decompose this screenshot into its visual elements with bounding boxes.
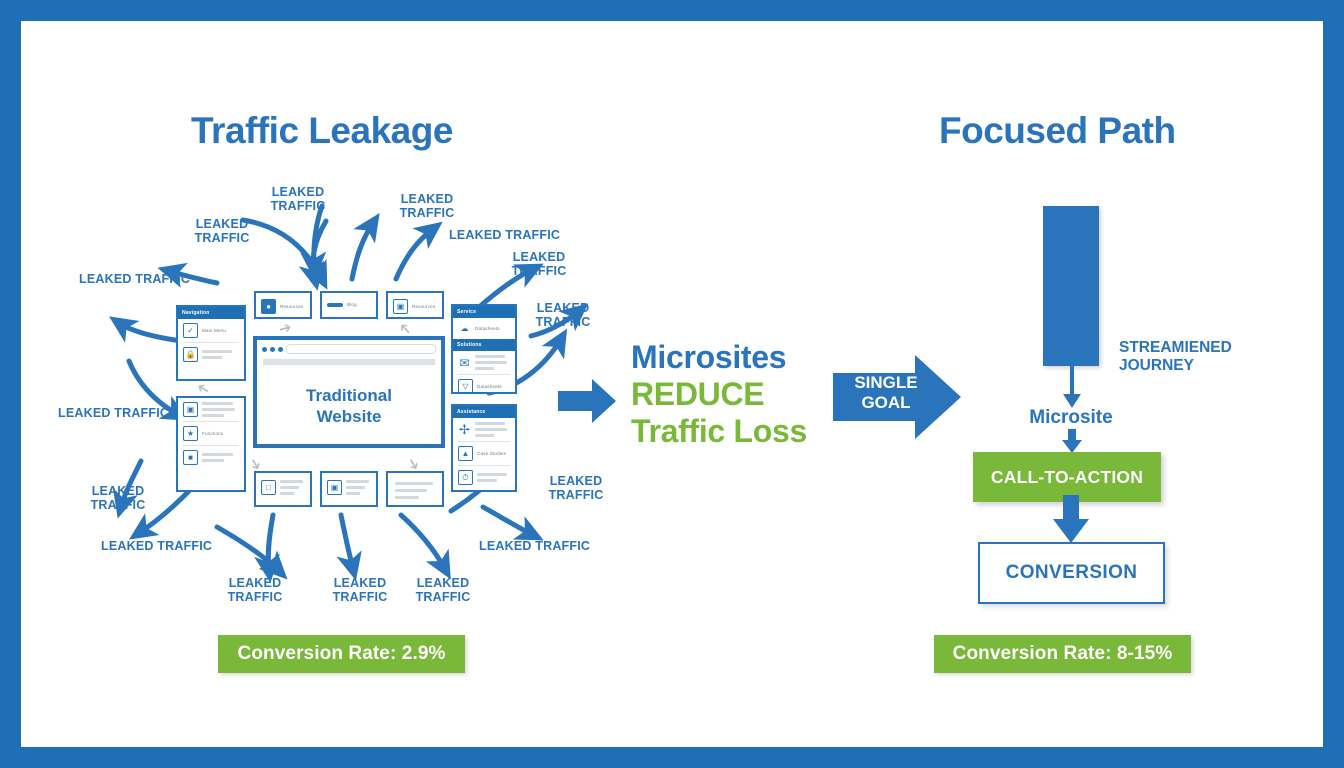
leak-label: LEAKED TRAFFIC <box>393 193 461 220</box>
gallery-icon: ▣ <box>327 480 342 495</box>
placeholder-line <box>202 414 224 417</box>
mockup-row-label: Resources <box>412 304 435 309</box>
leak-label: LEAKED TRAFFIC <box>84 485 152 512</box>
placeholder-line <box>475 355 505 358</box>
leak-label: LEAKED TRAFFIC <box>529 302 597 329</box>
traffic-funnel-bar <box>1043 206 1099 366</box>
single-goal-line2: GOAL <box>861 393 910 412</box>
leak-label: LEAKED TRAFFIC <box>188 218 256 245</box>
mockup-row: ✓ Main Menu <box>178 319 244 342</box>
mockup-row-label: Case Studies <box>477 451 506 456</box>
mockup-row: ▲ Case Studies <box>453 442 515 465</box>
mockup-card-top-2[interactable]: Blog <box>320 291 378 319</box>
placeholder-line <box>280 486 299 489</box>
mockup-card-bot-3[interactable] <box>386 471 444 507</box>
mockup-row: ■ <box>178 446 244 469</box>
placeholder-line <box>475 361 507 364</box>
placeholder-line <box>395 482 433 485</box>
mockup-header: Assistance <box>453 406 515 418</box>
lock-icon: 🔒 <box>183 347 198 362</box>
mockup-row-label: Functions <box>202 431 223 436</box>
placeholder-line <box>475 428 507 431</box>
mockup-row: ✢ <box>453 418 515 441</box>
placeholder-line <box>202 408 235 411</box>
leak-label: LEAKED TRAFFIC <box>264 186 332 213</box>
mockup-row-label: Datasheets <box>475 326 500 331</box>
placeholder-line <box>395 489 427 492</box>
leak-label: LEAKED TRAFFIC <box>449 229 560 243</box>
mockup-card-bot-1[interactable]: □ <box>254 471 312 507</box>
right-conversion-rate-banner: Conversion Rate: 8-15% <box>934 635 1191 673</box>
infographic-canvas: Traffic Leakage Focused Path <box>21 21 1323 747</box>
placeholder-line <box>202 356 222 359</box>
square-icon: □ <box>261 480 276 495</box>
placeholder-line <box>280 492 294 495</box>
doc-icon: ▲ <box>458 446 473 461</box>
center-line-1: Microsites <box>631 339 826 376</box>
browser-title-line2: Website <box>317 407 382 426</box>
mockup-row-label: Blog <box>347 302 357 307</box>
shield-icon: ★ <box>183 426 198 441</box>
mockup-row: □ <box>256 473 310 502</box>
mockup-row <box>388 473 442 508</box>
image-icon: ▣ <box>183 402 198 417</box>
person-icon: ● <box>261 299 276 314</box>
cloud-icon: ☁ <box>458 322 471 335</box>
mockup-row: 🔒 <box>178 343 244 366</box>
cta-to-conversion-arrow-icon <box>1051 495 1091 543</box>
mockup-right-panel-1[interactable]: Service ☁ Datasheets Solutions ✉ ▽ Datas… <box>451 304 517 394</box>
center-line-3: Traffic Loss <box>631 413 826 450</box>
mockup-row: ▣ <box>322 473 376 502</box>
leak-label: LEAKED TRAFFIC <box>409 577 477 604</box>
mockup-header-2: Solutions <box>453 339 515 351</box>
placeholder-line <box>280 480 303 483</box>
single-goal-line1: SINGLE <box>854 373 917 392</box>
square-icon: ■ <box>183 450 198 465</box>
placeholder-line <box>202 402 233 405</box>
placeholder-line <box>202 350 232 353</box>
leak-label: LEAKED TRAFFIC <box>479 540 590 554</box>
leak-label: LEAKED TRAFFIC <box>542 475 610 502</box>
gallery-icon: ▣ <box>393 299 408 314</box>
window-dot-icon <box>278 347 283 352</box>
clock-icon: ⏱ <box>458 470 473 485</box>
center-message: Microsites REDUCE Traffic Loss <box>631 339 826 450</box>
placeholder-line <box>202 453 233 456</box>
mockup-header: Service <box>453 306 515 318</box>
mockup-row: ▣ Resources <box>388 293 442 320</box>
traditional-website-mockup[interactable]: Traditional Website <box>253 336 445 448</box>
browser-nav-strip <box>263 359 435 365</box>
mockup-row: ● Resources <box>256 293 310 320</box>
funnel-to-microsite-arrow-icon <box>1061 366 1083 408</box>
leak-label: LEAKED TRAFFIC <box>58 407 169 421</box>
mockup-row-label: Resources <box>280 304 303 309</box>
mockup-row-label: Datasheets <box>477 384 502 389</box>
mockup-card-top-3[interactable]: ▣ Resources <box>386 291 444 319</box>
network-icon: ✢ <box>458 423 471 436</box>
leak-label: LEAKED TRAFFIC <box>505 251 573 278</box>
placeholder-line <box>475 422 505 425</box>
streamlined-journey-label: STREAMIENED JOURNEY <box>1119 339 1232 375</box>
placeholder-line <box>346 492 360 495</box>
single-goal-arrow: SINGLE GOAL <box>833 355 961 444</box>
mockup-card-top-1[interactable]: ● Resources <box>254 291 312 319</box>
leak-label: LEAKED TRAFFIC <box>79 273 190 287</box>
mockup-content-panel[interactable]: ▣ ★ Functions ■ <box>176 396 246 492</box>
browser-title: Traditional Website <box>257 385 441 427</box>
leak-label: LEAKED TRAFFIC <box>326 577 394 604</box>
placeholder-line <box>475 434 494 437</box>
placeholder-line <box>477 473 507 476</box>
browser-title-line1: Traditional <box>306 386 392 405</box>
placeholder-line <box>346 480 369 483</box>
transition-arrow-icon <box>558 379 616 423</box>
placeholder-line <box>395 496 419 499</box>
center-line-2: REDUCE <box>631 376 826 413</box>
mockup-row: ★ Functions <box>178 422 244 445</box>
microsite-label: Microsite <box>1021 407 1121 429</box>
mockup-header: Navigation <box>178 307 244 319</box>
mockup-row: ✉ <box>453 351 515 374</box>
placeholder-line <box>477 479 497 482</box>
bar-icon <box>327 303 343 307</box>
mockup-row-label: Main Menu <box>202 328 226 333</box>
placeholder-line <box>475 367 494 370</box>
microsite-to-cta-arrow-icon <box>1061 429 1083 453</box>
leak-label: LEAKED TRAFFIC <box>101 540 212 554</box>
mockup-card-bot-2[interactable]: ▣ <box>320 471 378 507</box>
inbox-icon: ▽ <box>458 379 473 394</box>
mockup-nav-panel[interactable]: Navigation ✓ Main Menu 🔒 <box>176 305 246 381</box>
left-conversion-rate-banner: Conversion Rate: 2.9% <box>218 635 465 673</box>
window-dot-icon <box>270 347 275 352</box>
placeholder-line <box>202 459 224 462</box>
checkbox-icon: ✓ <box>183 323 198 338</box>
mockup-row: ▣ <box>178 398 244 421</box>
window-dot-icon <box>262 347 267 352</box>
browser-chrome <box>257 340 441 356</box>
leak-label: LEAKED TRAFFIC <box>221 577 289 604</box>
conversion-box[interactable]: CONVERSION <box>978 542 1165 604</box>
mockup-row: ☁ Datasheets <box>453 318 515 339</box>
infographic-frame: Traffic Leakage Focused Path <box>14 14 1330 754</box>
mail-icon: ✉ <box>458 356 471 369</box>
single-goal-label: SINGLE GOAL <box>847 373 925 413</box>
browser-url-bar[interactable] <box>286 344 436 354</box>
mockup-row: Blog <box>322 293 376 316</box>
mockup-row: ▽ Datasheets <box>453 375 515 398</box>
mockup-row: ⏱ <box>453 466 515 489</box>
placeholder-line <box>346 486 365 489</box>
mockup-right-panel-2[interactable]: Assistance ✢ ▲ Case Studies ⏱ <box>451 404 517 492</box>
